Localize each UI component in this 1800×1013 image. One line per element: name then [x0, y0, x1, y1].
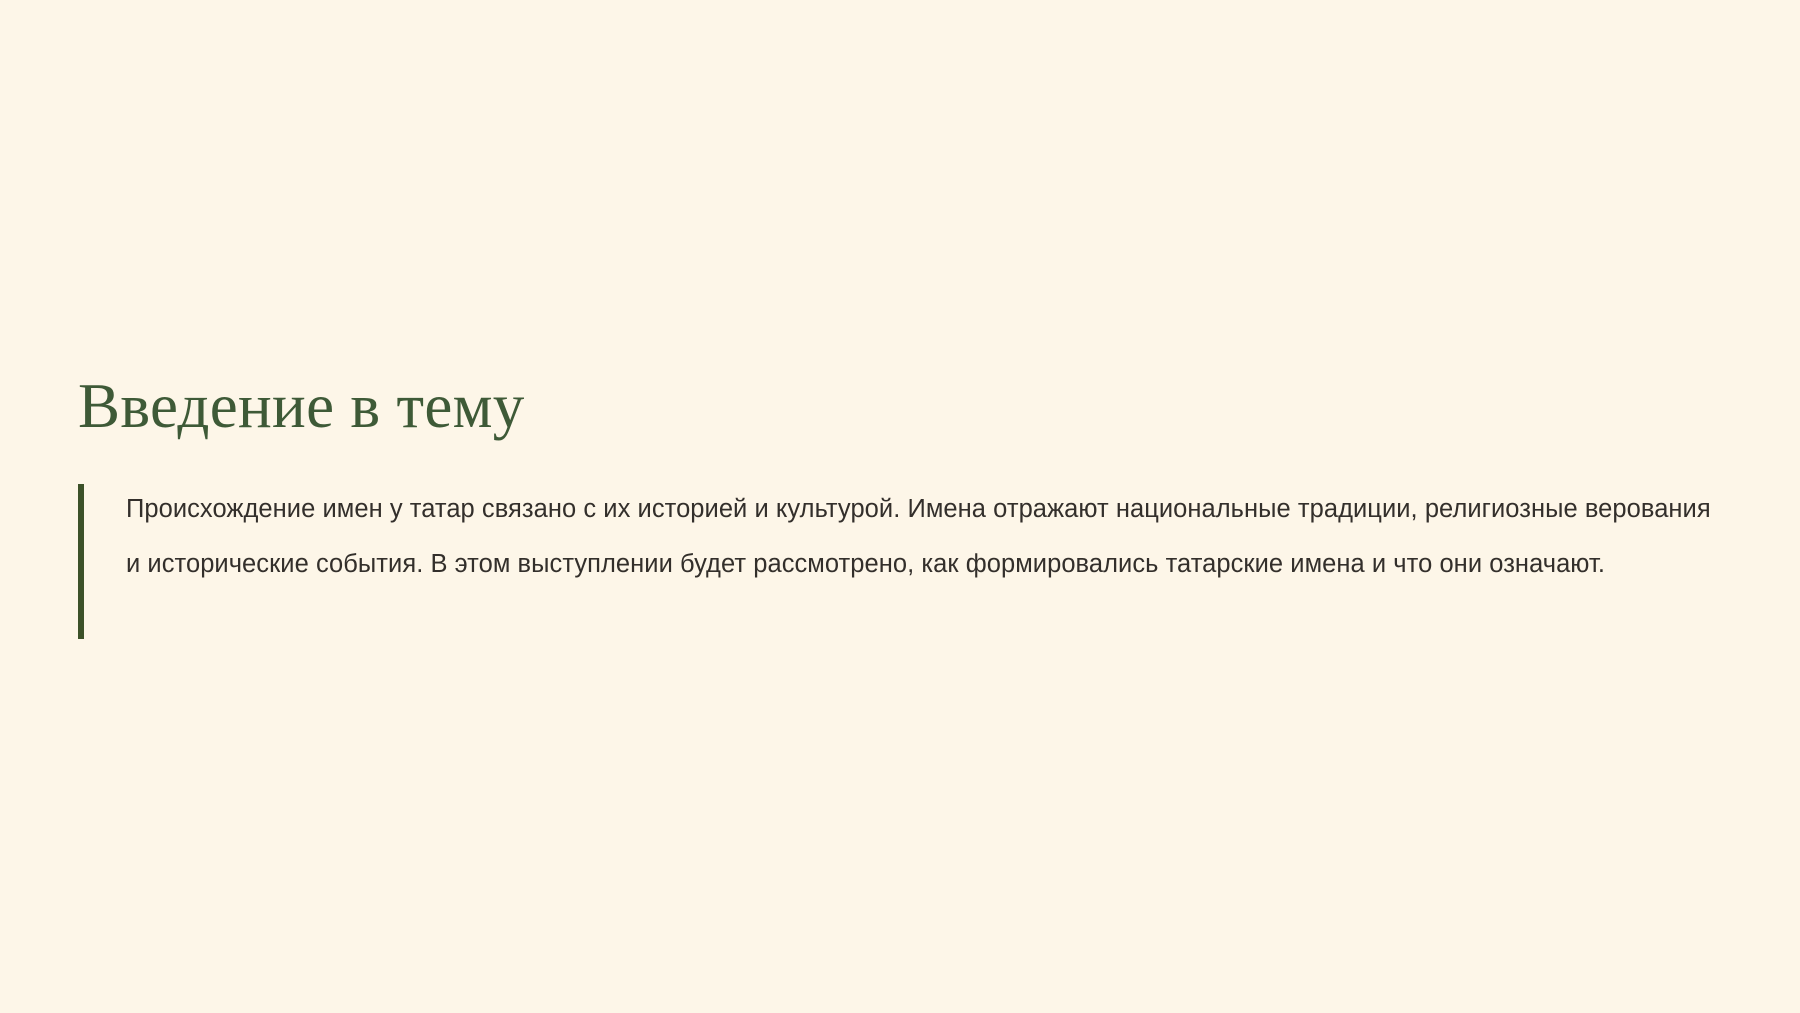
body-quote-block: Происхождение имен у татар связано с их … [78, 482, 1722, 592]
body-paragraph: Происхождение имен у татар связано с их … [126, 482, 1722, 592]
accent-bar [78, 484, 84, 639]
presentation-slide: Введение в тему Происхождение имен у тат… [0, 0, 1800, 1013]
slide-content-block: Введение в тему Происхождение имен у тат… [78, 372, 1722, 592]
page-title: Введение в тему [78, 372, 1722, 440]
